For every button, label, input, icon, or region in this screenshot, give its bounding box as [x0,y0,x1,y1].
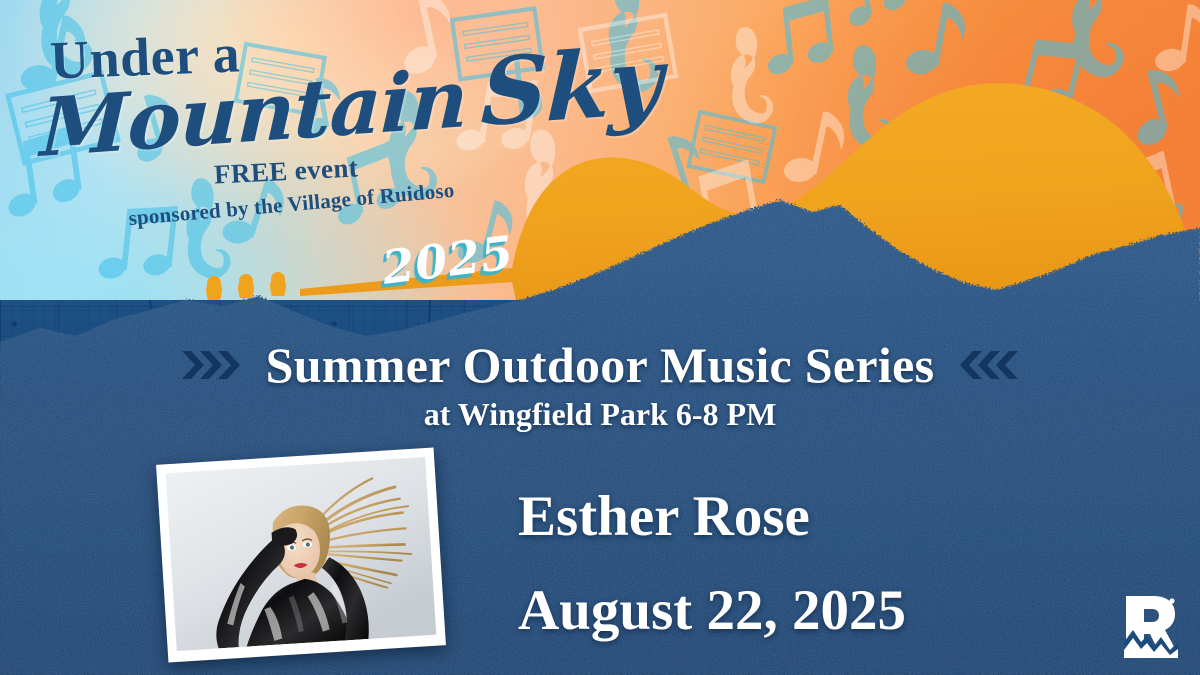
village-of-ruidoso-logo-icon [1120,592,1182,658]
free-event-label: FREE event [213,152,359,190]
artist-name: Esther Rose [518,484,810,549]
brand-header-block: Under a MountainSky FREE event sponsored… [0,0,620,300]
event-date: August 22, 2025 [518,578,906,643]
artist-photo-frame [156,447,446,662]
series-title: Summer Outdoor Music Series [266,336,935,394]
triple-chevron-left-icon [956,348,1018,382]
year-label: 2025 [379,225,517,295]
series-subtitle: at Wingfield Park 6-8 PM [0,396,1200,433]
artist-portrait-illustration [166,457,437,651]
artist-photo [166,457,437,651]
event-poster: Under a MountainSky FREE event sponsored… [0,0,1200,675]
triple-chevron-right-icon [182,348,244,382]
brand-title-word-sky: Sky [479,26,663,147]
series-title-block: Summer Outdoor Music Series at Wingfield… [0,336,1200,433]
